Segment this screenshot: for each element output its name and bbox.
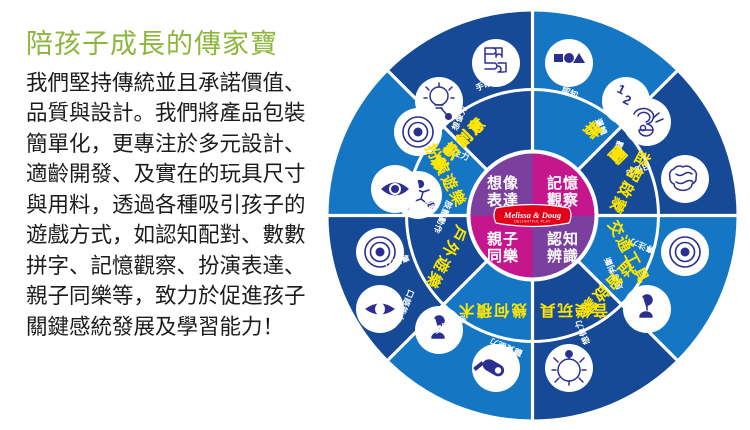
brand-logo-text: Melissa & Doug [503, 210, 562, 220]
intro-line: 親子同樂等，致力於促進孩子 [26, 281, 356, 312]
core-label-family-1: 親子 [487, 230, 519, 248]
wheel-svg: 想像力 手眼協調 認知 1 2 [325, 8, 740, 423]
intro-panel: 陪孩子成長的傳家寶 我們堅持傳統並且承諾價值、 品質與設計。我們將產品包裝 簡單… [26, 30, 356, 410]
intro-line: 與用料，透過各種吸引孩子的 [26, 190, 356, 221]
intro-line: 拼字、記憶觀察、扮演表達、 [26, 251, 356, 282]
core-label-recognition-1: 認知 [547, 230, 579, 248]
segment-label-blocks[interactable]: 幾何積木 [457, 301, 527, 320]
segment-label-music[interactable]: 音樂玩具 [538, 301, 608, 320]
intro-line: 品質與設計。我們將產品包裝 [26, 98, 356, 129]
intro-line: 簡單化，更專注於多元設計、 [26, 129, 356, 160]
core-label-memory-1: 記憶 [547, 174, 579, 192]
brand-logo[interactable]: Melissa & Doug DELIGHTFUL PLAY [494, 205, 571, 227]
capability-wheel: 想像力 手眼協調 認知 1 2 [325, 8, 740, 423]
intro-line: 適齡開發、及實在的玩具尺寸 [26, 159, 356, 190]
intro-line: 我們堅持傳統並且承諾價值、 [26, 68, 356, 99]
page-title: 陪孩子成長的傳家寶 [26, 30, 356, 60]
core-label-family-2: 同樂 [487, 247, 519, 265]
brand-logo-sub: DELIGHTFUL PLAY [514, 220, 551, 224]
intro-line: 遊戲方式，如認知配對、數數 [26, 220, 356, 251]
core-label-imagination-1: 想像 [486, 174, 519, 192]
core-label-recognition-2: 辨識 [547, 247, 579, 265]
intro-line: 關鍵感統發展及學習能力！ [26, 312, 356, 343]
intro-paragraph: 我們堅持傳統並且承諾價值、 品質與設計。我們將產品包裝 簡單化，更專注於多元設計… [26, 68, 356, 343]
